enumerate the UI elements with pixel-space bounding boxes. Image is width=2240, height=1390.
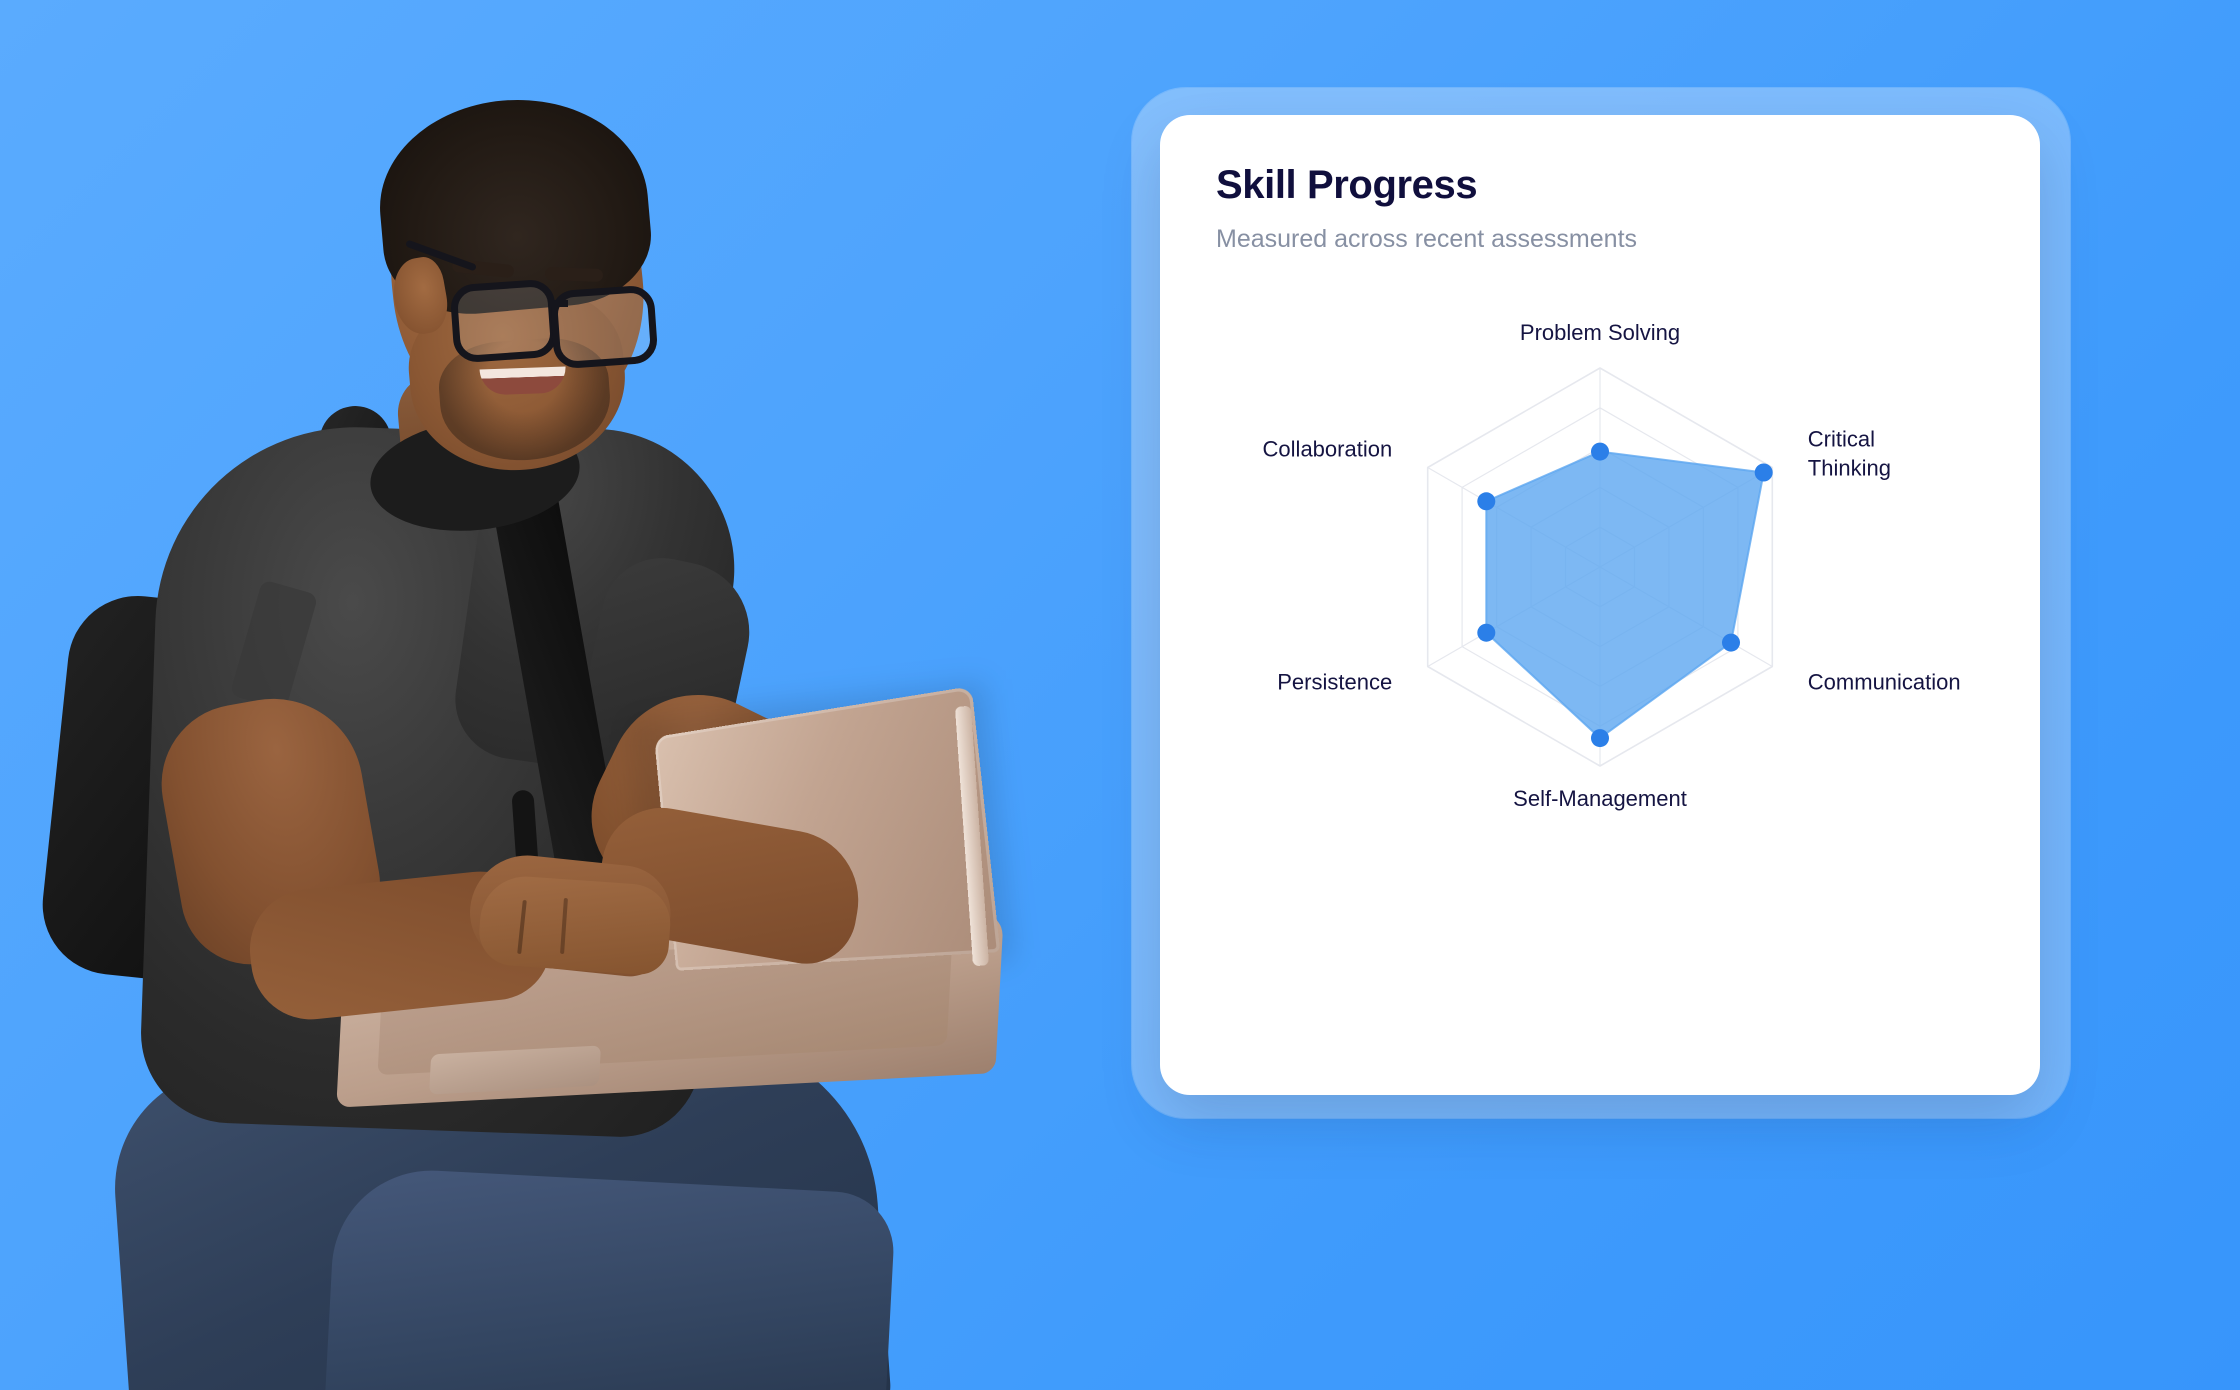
glasses-lens-right <box>549 284 658 369</box>
skill-progress-card: Skill Progress Measured across recent as… <box>1160 115 2040 1095</box>
eyebrow-right <box>545 267 603 282</box>
page-title: Skill Progress <box>1216 163 2040 207</box>
radar-chart: Problem SolvingCriticalThinkingCommunica… <box>1160 305 2040 1005</box>
jeans-thigh <box>324 1166 897 1390</box>
radar-axis-label: Communication <box>1808 670 1961 695</box>
glasses-bridge <box>552 300 568 307</box>
radar-axis-label: Collaboration <box>1263 437 1393 462</box>
card-header: Skill Progress Measured across recent as… <box>1160 115 2040 254</box>
glasses-lens-left <box>449 278 558 363</box>
card-subtitle: Measured across recent assessments <box>1216 225 2040 254</box>
student-photo <box>0 0 1140 1390</box>
page-root: Skill Progress Measured across recent as… <box>0 0 2240 1390</box>
fingers-on-keyboard <box>477 873 673 976</box>
radar-axis-label: Persistence <box>1277 670 1392 695</box>
radar-axis-label: CriticalThinking <box>1808 427 1891 481</box>
radar-axis-label: Self-Management <box>1513 786 1687 811</box>
radar-axis-label: Problem Solving <box>1520 320 1680 345</box>
radar-chart-container: Problem SolvingCriticalThinkingCommunica… <box>1160 305 2040 1005</box>
